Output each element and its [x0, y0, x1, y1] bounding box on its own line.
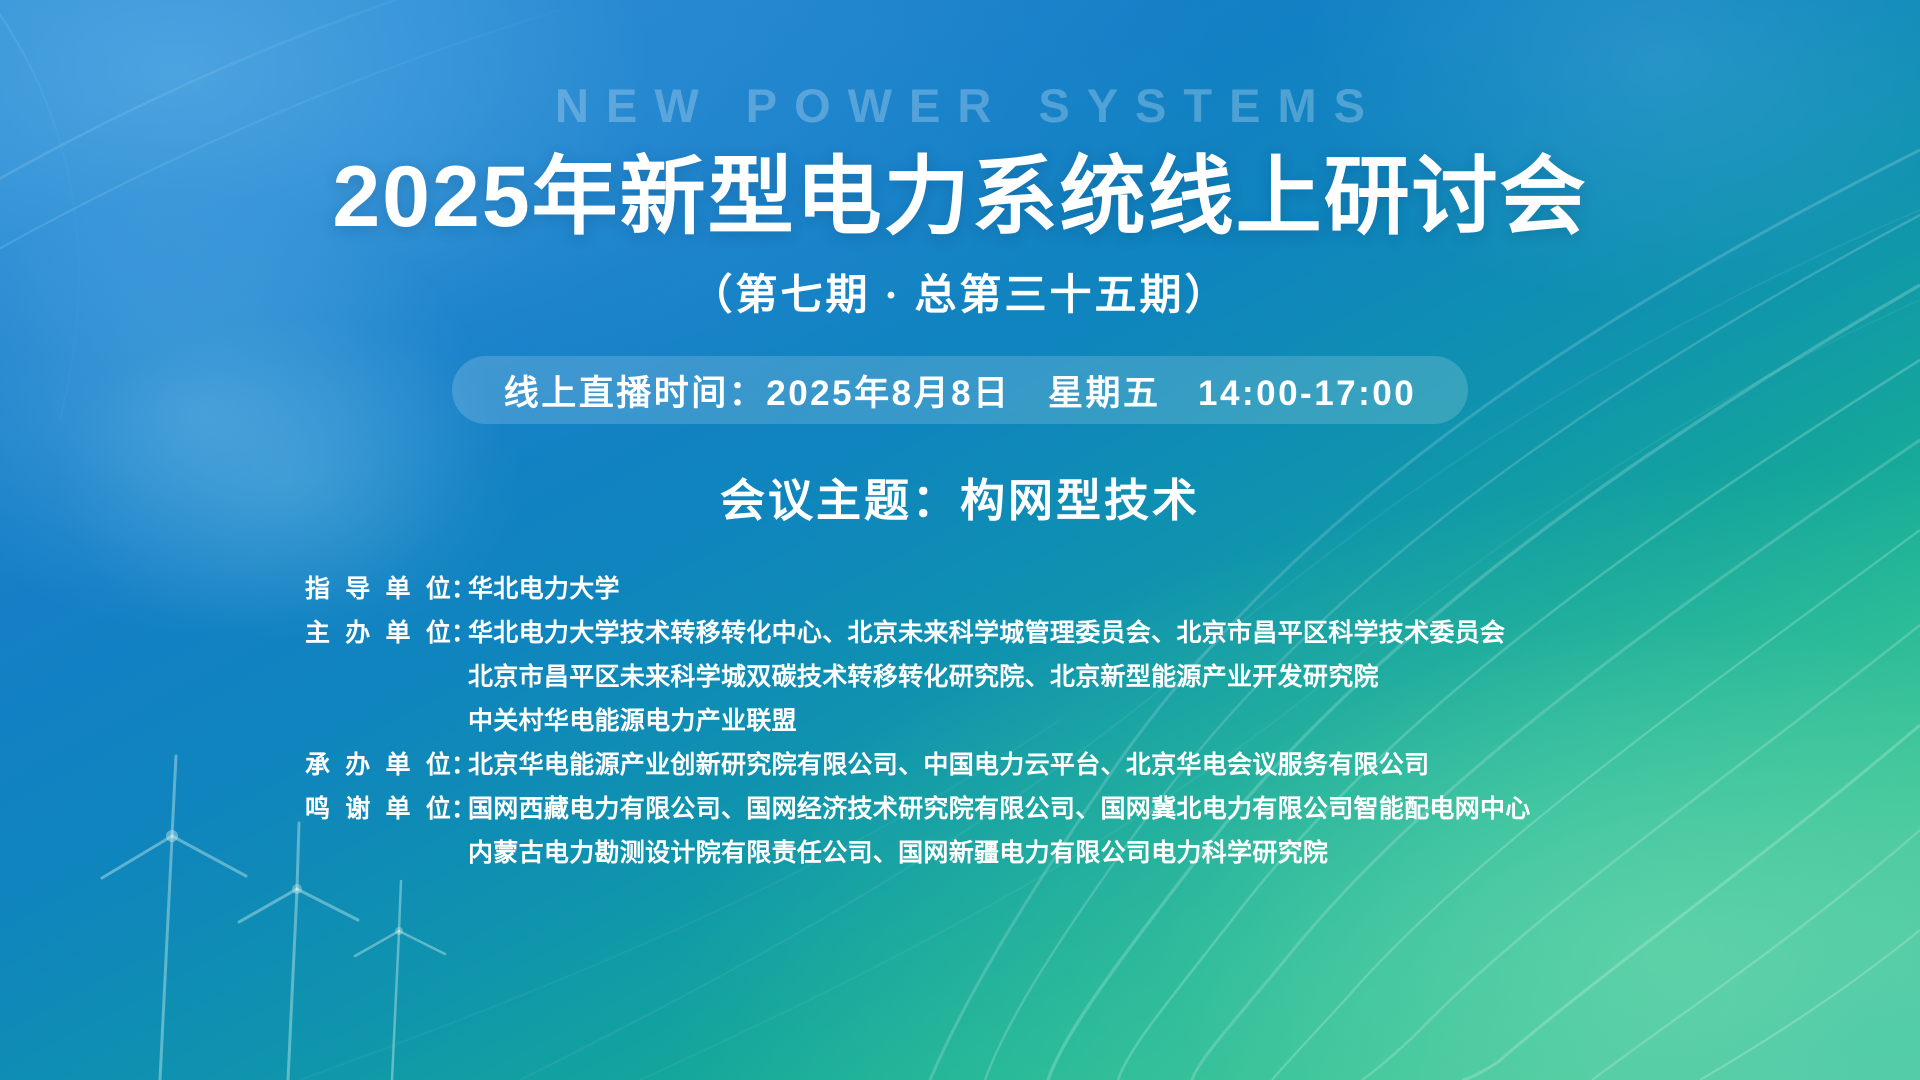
credit-values: 国网西藏电力有限公司、国网经济技术研究院有限公司、国网冀北电力有限公司智能配电网… — [468, 787, 1615, 875]
credits-block: 指导单位 ： 华北电力大学 主办单位 ： 华北电力大学技术转移转化中心、北京未来… — [305, 567, 1615, 875]
credit-colon: ： — [451, 567, 468, 611]
credit-label: 鸣谢单位 — [305, 787, 451, 831]
credit-line: 华北电力大学技术转移转化中心、北京未来科学城管理委员会、北京市昌平区科学技术委员… — [468, 611, 1615, 655]
issue-subtitle: （第七期 · 总第三十五期） — [690, 261, 1229, 322]
english-wordmark: NEW POWER SYSTEMS — [538, 78, 1382, 133]
credit-colon: ： — [451, 611, 468, 655]
credit-row-guidance: 指导单位 ： 华北电力大学 — [305, 567, 1615, 611]
credit-values: 北京华电能源产业创新研究院有限公司、中国电力云平台、北京华电会议服务有限公司 — [468, 743, 1615, 787]
credit-label: 承办单位 — [305, 743, 451, 787]
credit-row-acknowledgements: 鸣谢单位 ： 国网西藏电力有限公司、国网经济技术研究院有限公司、国网冀北电力有限… — [305, 787, 1615, 875]
live-time-badge: 线上直播时间：2025年8月8日 星期五 14:00-17:00 — [452, 356, 1468, 424]
credit-line: 北京市昌平区未来科学城双碳技术转移转化研究院、北京新型能源产业开发研究院 — [468, 655, 1615, 699]
credit-values: 华北电力大学 — [468, 567, 1615, 611]
poster-content: NEW POWER SYSTEMS 2025年新型电力系统线上研讨会 （第七期 … — [0, 0, 1920, 1080]
credit-line: 中关村华电能源电力产业联盟 — [468, 699, 1615, 743]
credit-line: 国网西藏电力有限公司、国网经济技术研究院有限公司、国网冀北电力有限公司智能配电网… — [468, 787, 1615, 831]
page-title: 2025年新型电力系统线上研讨会 — [332, 149, 1587, 245]
credit-row-hosts: 主办单位 ： 华北电力大学技术转移转化中心、北京未来科学城管理委员会、北京市昌平… — [305, 611, 1615, 743]
credit-colon: ： — [451, 743, 468, 787]
credit-label: 指导单位 — [305, 567, 451, 611]
credit-label: 主办单位 — [305, 611, 451, 655]
credit-line: 内蒙古电力勘测设计院有限责任公司、国网新疆电力有限公司电力科学研究院 — [468, 831, 1615, 875]
credit-row-organizers: 承办单位 ： 北京华电能源产业创新研究院有限公司、中国电力云平台、北京华电会议服… — [305, 743, 1615, 787]
conference-poster: NEW POWER SYSTEMS 2025年新型电力系统线上研讨会 （第七期 … — [0, 0, 1920, 1080]
live-time-text: 线上直播时间：2025年8月8日 星期五 14:00-17:00 — [504, 365, 1416, 416]
conference-theme: 会议主题：构网型技术 — [720, 464, 1200, 529]
credit-colon: ： — [451, 787, 468, 831]
credit-line: 华北电力大学 — [468, 567, 1615, 611]
credit-line: 北京华电能源产业创新研究院有限公司、中国电力云平台、北京华电会议服务有限公司 — [468, 743, 1615, 787]
credit-values: 华北电力大学技术转移转化中心、北京未来科学城管理委员会、北京市昌平区科学技术委员… — [468, 611, 1615, 743]
